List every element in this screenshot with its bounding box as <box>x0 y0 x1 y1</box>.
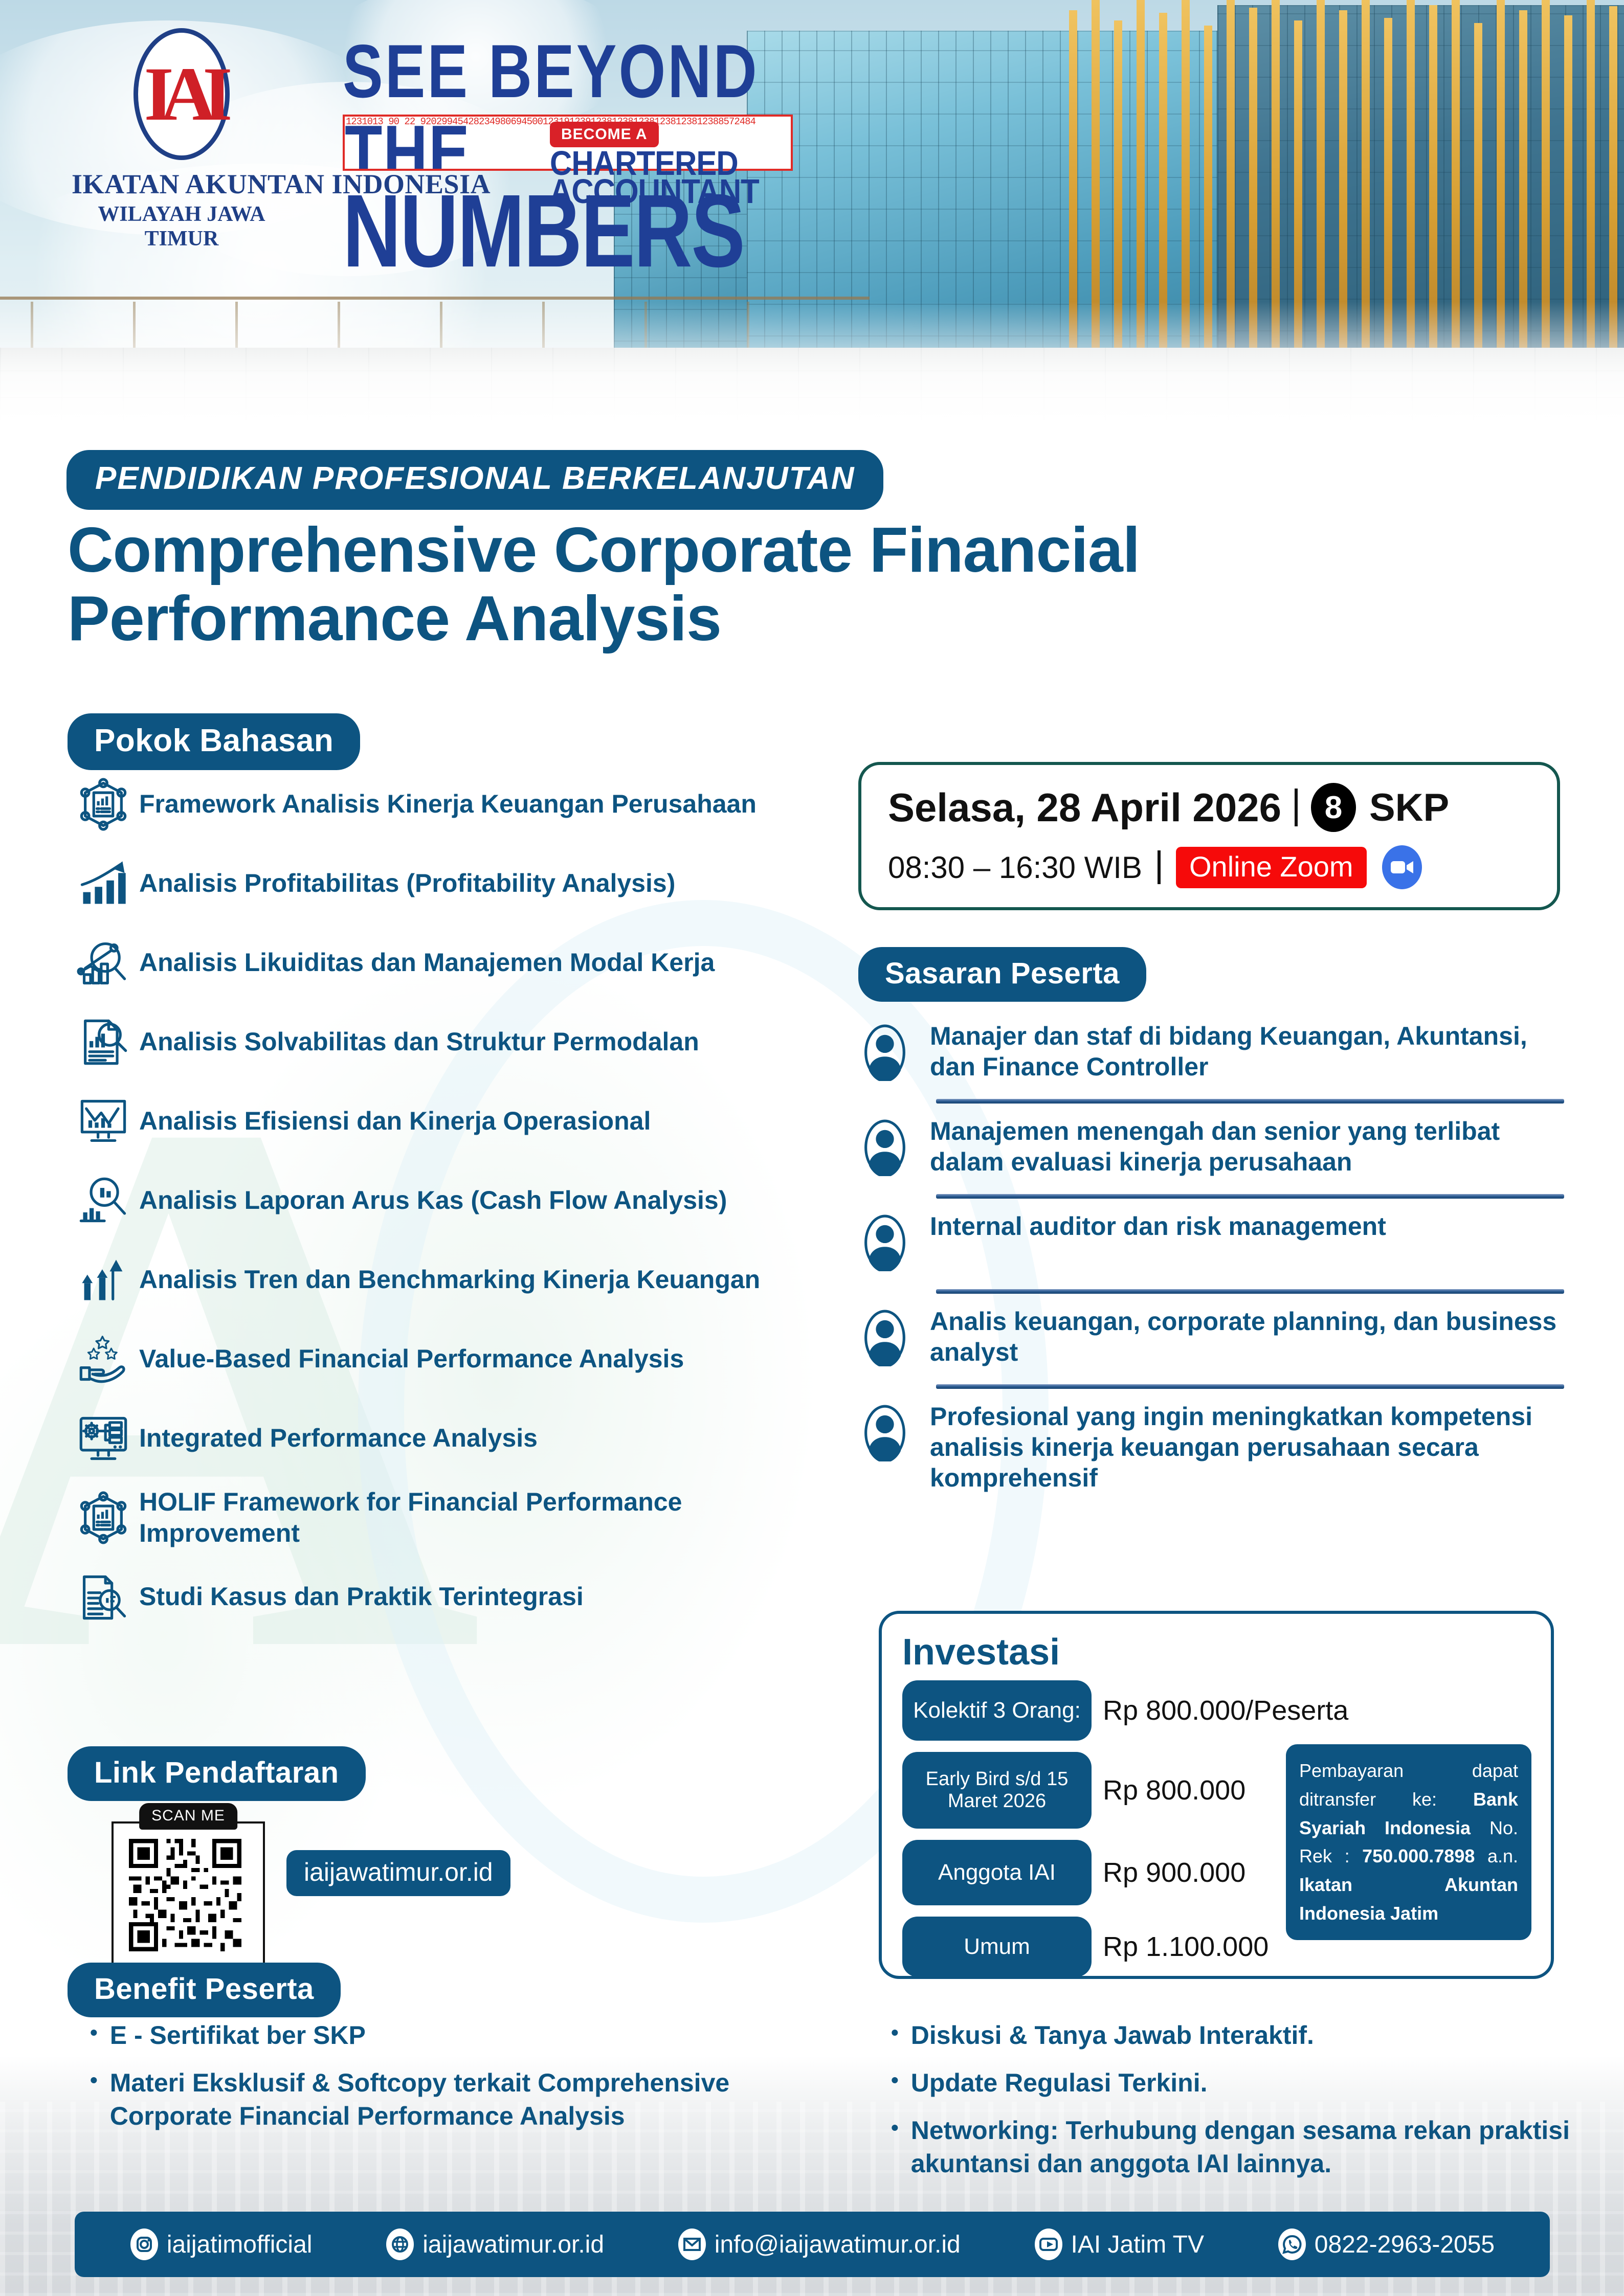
topic-label: Analisis Profitabilitas (Profitability A… <box>139 868 675 899</box>
chart-magnifier-icon <box>68 936 139 989</box>
topic-label: Analisis Tren dan Benchmarking Kinerja K… <box>139 1264 760 1295</box>
registration-url[interactable]: iaijawatimur.or.id <box>286 1850 510 1896</box>
price-tier-label: Kolektif 3 Orang: <box>902 1680 1092 1741</box>
hexagon-report-icon <box>68 1491 139 1544</box>
audience-item: Internal auditor dan risk management <box>858 1208 1564 1280</box>
page-title: Comprehensive Corporate Financial Perfor… <box>68 516 1321 654</box>
hexagon-report-icon <box>68 778 139 831</box>
topic-label: Analisis Solvabilitas dan Struktur Permo… <box>139 1026 699 1057</box>
topic-item: Framework Analisis Kinerja Keuangan Peru… <box>68 772 835 836</box>
globe-icon <box>386 2228 414 2261</box>
schedule-date-row: Selasa, 28 April 2026 8 SKP <box>888 783 1530 832</box>
bank-note-an: a.n. <box>1475 1845 1518 1866</box>
divider <box>1158 850 1161 884</box>
event-date: Selasa, 28 April 2026 <box>888 784 1281 831</box>
instagram-icon <box>130 2228 159 2261</box>
page-title-line2: Performance Analysis <box>68 585 1321 654</box>
topic-label: Analisis Laporan Arus Kas (Cash Flow Ana… <box>139 1185 727 1216</box>
person-icon <box>858 1309 911 1369</box>
footer-item-label: iaijawatimur.or.id <box>422 2231 604 2259</box>
qr-code-block[interactable]: SCAN ME <box>112 1821 265 1969</box>
price-tier-label: Anggota IAI <box>902 1840 1092 1905</box>
bullet-icon: • <box>90 2066 98 2133</box>
bullet-icon: • <box>891 2066 899 2100</box>
document-magnifier-chart-icon <box>68 1016 139 1069</box>
investment-box: Investasi Kolektif 3 Orang: Rp 800.000/P… <box>879 1611 1554 1979</box>
audience-label: Profesional yang ingin meningkatkan komp… <box>930 1401 1564 1493</box>
footer-item-label: iaijatimofficial <box>167 2231 313 2259</box>
person-icon <box>858 1404 911 1464</box>
footer-item-website[interactable]: iaijawatimur.or.id <box>386 2228 604 2261</box>
topic-item: Analisis Laporan Arus Kas (Cash Flow Ana… <box>68 1168 835 1232</box>
magnifier-bar-chart-icon <box>68 1174 139 1227</box>
price-tier-label: Umum <box>902 1917 1092 1977</box>
person-icon <box>858 1024 911 1084</box>
document-magnifier-icon <box>68 1570 139 1624</box>
price-row: Kolektif 3 Orang: Rp 800.000/Peserta <box>902 1680 1530 1741</box>
topic-label: Analisis Efisiensi dan Kinerja Operasion… <box>139 1106 651 1137</box>
audience-item: Profesional yang ingin meningkatkan komp… <box>858 1398 1564 1499</box>
footer-item-youtube[interactable]: IAI Jatim TV <box>1034 2228 1205 2261</box>
skp-badge: 8 <box>1311 783 1356 832</box>
divider <box>936 1384 1564 1389</box>
topic-item: Value-Based Financial Performance Analys… <box>68 1327 835 1391</box>
topic-label: Value-Based Financial Performance Analys… <box>139 1343 684 1375</box>
topic-item: Analisis Tren dan Benchmarking Kinerja K… <box>68 1248 835 1312</box>
investment-heading: Investasi <box>902 1631 1530 1673</box>
bank-account-holder: Ikatan Akuntan Indonesia Jatim <box>1299 1874 1518 1924</box>
qr-code-icon[interactable] <box>125 1835 246 1955</box>
topic-item: Analisis Profitabilitas (Profitability A… <box>68 851 835 915</box>
bank-account-number: 750.000.7898 <box>1362 1845 1475 1866</box>
price-value: Rp 900.000 <box>1103 1857 1245 1888</box>
page-title-line1: Comprehensive Corporate Financial <box>68 516 1321 585</box>
divider <box>936 1099 1564 1104</box>
price-tier-label: Early Bird s/d 15 Maret 2026 <box>902 1752 1092 1829</box>
topic-label: Analisis Likuiditas dan Manajemen Modal … <box>139 947 715 978</box>
audience-label: Manajemen menengah dan senior yang terli… <box>930 1116 1564 1177</box>
price-value: Rp 1.100.000 <box>1103 1931 1269 1963</box>
footer-item-label: IAI Jatim TV <box>1071 2231 1205 2259</box>
benefits-left-list: • E - Sertifikat ber SKP • Materi Eksklu… <box>90 2019 847 2147</box>
footer-item-instagram[interactable]: iaijatimofficial <box>130 2228 313 2261</box>
schedule-time-row: 08:30 – 16:30 WIB Online Zoom <box>888 845 1530 889</box>
platform-badge: Online Zoom <box>1176 847 1367 888</box>
schedule-box: Selasa, 28 April 2026 8 SKP 08:30 – 16:3… <box>858 762 1560 910</box>
price-value: Rp 800.000/Peserta <box>1103 1695 1348 1726</box>
benefit-label: Diskusi & Tanya Jawab Interaktif. <box>911 2019 1314 2052</box>
kicker-badge: PENDIDIKAN PROFESIONAL BERKELANJUTAN <box>66 450 883 510</box>
organization-region: WILAYAH JAWA TIMUR <box>72 202 292 251</box>
monitor-declining-chart-icon <box>68 1095 139 1148</box>
qr-card[interactable] <box>112 1821 265 1969</box>
bullet-icon: • <box>891 2019 899 2052</box>
topic-item: HOLIF Framework for Financial Performanc… <box>68 1485 835 1549</box>
event-time: 08:30 – 16:30 WIB <box>888 850 1142 885</box>
campaign-line-the: THE <box>345 115 471 171</box>
benefit-label: Update Regulasi Terkini. <box>911 2066 1208 2100</box>
audience-list: Manajer dan staf di bidang Keuangan, Aku… <box>858 1018 1564 1499</box>
organization-name: IKATAN AKUNTAN INDONESIA <box>72 168 292 200</box>
footer-contact-bar: iaijatimofficial iaijawatimur.or.id info… <box>75 2212 1550 2277</box>
bullet-icon: • <box>90 2019 98 2052</box>
benefit-item: • Materi Eksklusif & Softcopy terkait Co… <box>90 2066 847 2133</box>
benefits-heading: Benefit Peserta <box>68 1963 341 2017</box>
audience-label: Internal auditor dan risk management <box>930 1211 1386 1242</box>
topic-item: Studi Kasus dan Praktik Terintegrasi <box>68 1565 835 1629</box>
topics-list: Framework Analisis Kinerja Keuangan Peru… <box>68 772 835 1644</box>
footer-item-email[interactable]: info@iaijawatimur.or.id <box>678 2228 961 2261</box>
up-arrows-trend-icon <box>68 1253 139 1307</box>
badge-accountant: ACCOUNTANT <box>550 175 678 207</box>
audience-item: Manajer dan staf di bidang Keuangan, Aku… <box>858 1018 1564 1090</box>
whatsapp-icon <box>1278 2228 1306 2261</box>
benefit-item: • Networking: Terhubung dengan sesama re… <box>891 2114 1607 2180</box>
divider <box>1295 789 1298 826</box>
growth-bar-chart-icon <box>68 857 139 910</box>
audience-item: Analis keuangan, corporate planning, dan… <box>858 1303 1564 1375</box>
topic-item: Analisis Likuiditas dan Manajemen Modal … <box>68 931 835 995</box>
benefit-label: E - Sertifikat ber SKP <box>110 2019 366 2052</box>
topics-heading: Pokok Bahasan <box>68 713 360 770</box>
topic-label: Studi Kasus dan Praktik Terintegrasi <box>139 1581 584 1612</box>
benefit-label: Networking: Terhubung dengan sesama reka… <box>911 2114 1607 2180</box>
divider <box>936 1289 1564 1294</box>
iai-monogram-text: IAI <box>144 56 219 132</box>
scan-me-label: SCAN ME <box>139 1803 237 1830</box>
poster-root: A <box>0 0 1624 2296</box>
benefit-label: Materi Eksklusif & Softcopy terkait Comp… <box>110 2066 847 2133</box>
registration-heading: Link Pendaftaran <box>68 1746 366 1801</box>
price-value: Rp 800.000 <box>1103 1774 1245 1806</box>
bullet-icon: • <box>891 2114 899 2180</box>
topic-item: Integrated Performance Analysis <box>68 1406 835 1470</box>
benefits-right-list: • Diskusi & Tanya Jawab Interaktif. • Up… <box>891 2019 1607 2195</box>
topic-item: Analisis Solvabilitas dan Struktur Permo… <box>68 1010 835 1074</box>
footer-item-whatsapp[interactable]: 0822-2963-2055 <box>1278 2228 1495 2261</box>
chartered-accountant-badge: BECOME A CHARTERED ACCOUNTANT <box>550 122 678 204</box>
benefit-item: • E - Sertifikat ber SKP <box>90 2019 847 2052</box>
footer-item-label: 0822-2963-2055 <box>1315 2231 1495 2259</box>
divider <box>936 1194 1564 1199</box>
audience-heading: Sasaran Peserta <box>858 947 1146 1002</box>
topic-label: HOLIF Framework for Financial Performanc… <box>139 1487 835 1549</box>
email-icon <box>678 2228 706 2261</box>
benefit-item: • Diskusi & Tanya Jawab Interaktif. <box>891 2019 1607 2052</box>
topic-label: Framework Analisis Kinerja Keuangan Peru… <box>139 789 757 820</box>
iai-logo: IAI IKATAN AKUNTAN INDONESIA WILAYAH JAW… <box>72 28 292 251</box>
campaign-line-see-beyond: SEE BEYOND <box>343 36 854 107</box>
youtube-icon <box>1034 2228 1063 2261</box>
hand-stars-icon <box>68 1333 139 1386</box>
iai-monogram-icon: IAI <box>134 28 230 160</box>
monitor-gear-network-icon <box>68 1412 139 1465</box>
zoom-camera-icon <box>1382 845 1422 889</box>
topic-item: Analisis Efisiensi dan Kinerja Operasion… <box>68 1089 835 1153</box>
audience-label: Manajer dan staf di bidang Keuangan, Aku… <box>930 1021 1564 1082</box>
person-icon <box>858 1214 911 1274</box>
bank-transfer-note: Pembayaran dapat ditransfer ke: Bank Sya… <box>1286 1744 1531 1940</box>
footer-item-label: info@iaijawatimur.or.id <box>715 2231 961 2259</box>
audience-label: Analis keuangan, corporate planning, dan… <box>930 1306 1564 1367</box>
benefit-item: • Update Regulasi Terkini. <box>891 2066 1607 2100</box>
person-icon <box>858 1119 911 1179</box>
skp-label: SKP <box>1369 785 1449 830</box>
audience-item: Manajemen menengah dan senior yang terli… <box>858 1113 1564 1185</box>
topic-label: Integrated Performance Analysis <box>139 1423 538 1454</box>
